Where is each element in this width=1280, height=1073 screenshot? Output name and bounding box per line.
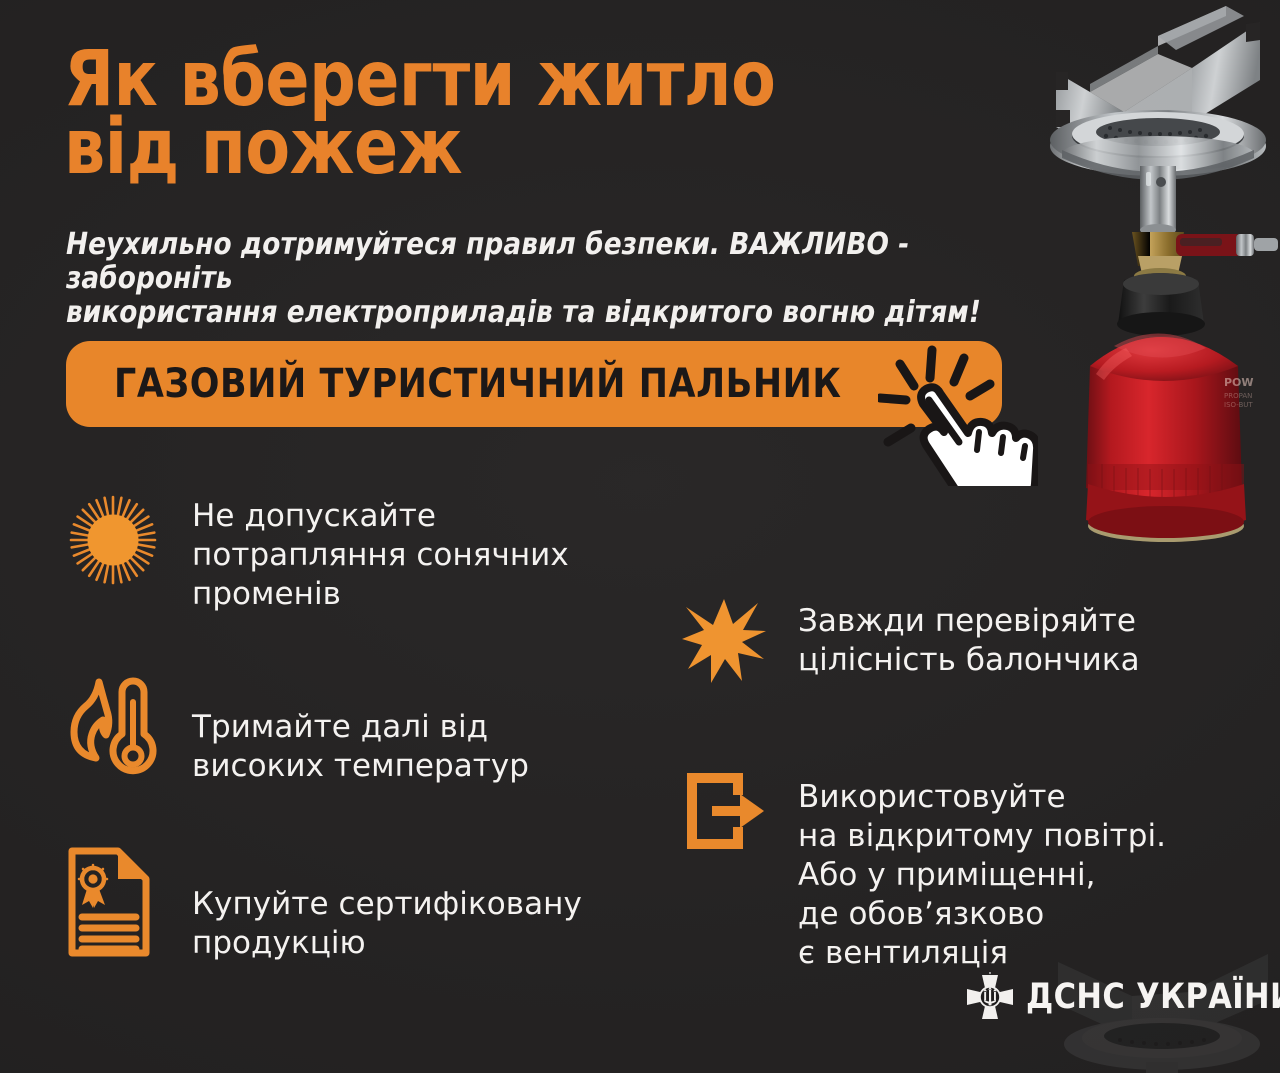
svg-text:POW: POW — [1224, 376, 1254, 389]
dsns-cross-trident-emblem-icon — [966, 972, 1014, 1022]
svg-text:PROPAN: PROPAN — [1224, 392, 1252, 400]
tip-label: Використовуйте на відкритому повітрі. Аб… — [798, 778, 1218, 973]
explosion-burst-icon — [680, 597, 768, 685]
tip-label: Не допускайте потрапляння сонячних проме… — [192, 497, 592, 614]
flame-thermometer-icon — [60, 668, 166, 788]
tip-label: Тримайте далі від високих температур — [192, 708, 592, 786]
tip-keep-away-from-heat: Тримайте далі від високих температур — [60, 668, 592, 788]
gas-canister: POW PROPAN ISO-BUT — [1086, 333, 1254, 542]
click-hand-cursor-icon — [878, 336, 1038, 486]
pointing-hand-shape — [921, 387, 1037, 486]
burner-stem — [1140, 166, 1176, 236]
page-subtitle: Неухильно дотримуйтеся правил безпеки. В… — [66, 228, 1064, 330]
svg-text:ISO-BUT: ISO-BUT — [1224, 401, 1253, 409]
dsns-logo-text: ДСНС УКРАЇНИ — [1026, 977, 1280, 1017]
tip-label: Завжди перевіряйте цілісність балончика — [798, 602, 1198, 680]
dsns-ukraine-logo: ДСНС УКРАЇНИ — [966, 972, 1280, 1022]
exit-arrow-icon — [680, 768, 768, 856]
tip-buy-certified: Купуйте сертифіковану продукцію — [60, 843, 612, 963]
cta-label: ГАЗОВИЙ ТУРИСТИЧНИЙ ПАЛЬНИК — [114, 341, 842, 427]
tip-label: Купуйте сертифіковану продукцію — [192, 885, 612, 963]
sun-rays-icon — [60, 487, 166, 593]
certificate-document-icon — [60, 843, 164, 961]
page-title: Як вберегти житло від пожеж — [64, 46, 910, 182]
tip-check-canister-integrity: Завжди перевіряйте цілісність балончика — [680, 597, 1198, 685]
gas-burner-cta-button[interactable]: ГАЗОВИЙ ТУРИСТИЧНИЙ ПАЛЬНИК — [66, 341, 1002, 427]
gas-burner-photo: POW PROPAN ISO-BUT — [1028, 0, 1280, 560]
tip-avoid-sunlight: Не допускайте потрапляння сонячних проме… — [60, 487, 592, 614]
canister-collar — [1117, 273, 1205, 336]
fire-safety-infographic-poster: POW PROPAN ISO-BUT — [0, 0, 1280, 1073]
tip-use-outdoors-or-ventilated: Використовуйте на відкритому повітрі. Аб… — [680, 768, 1218, 973]
